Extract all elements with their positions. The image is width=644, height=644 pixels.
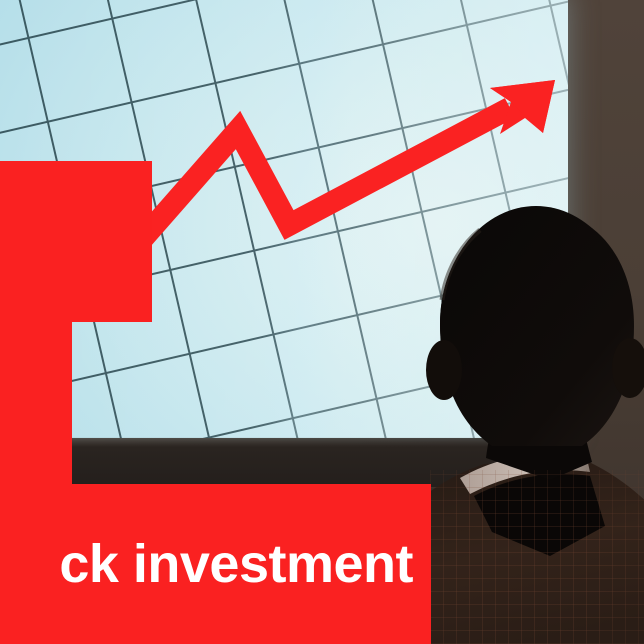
person-silhouette — [400, 196, 644, 644]
photo-card: ck investment — [0, 0, 644, 644]
caption-text: ck investment — [0, 484, 431, 644]
accent-block-left-column — [0, 322, 72, 484]
accent-block-top — [0, 161, 152, 322]
